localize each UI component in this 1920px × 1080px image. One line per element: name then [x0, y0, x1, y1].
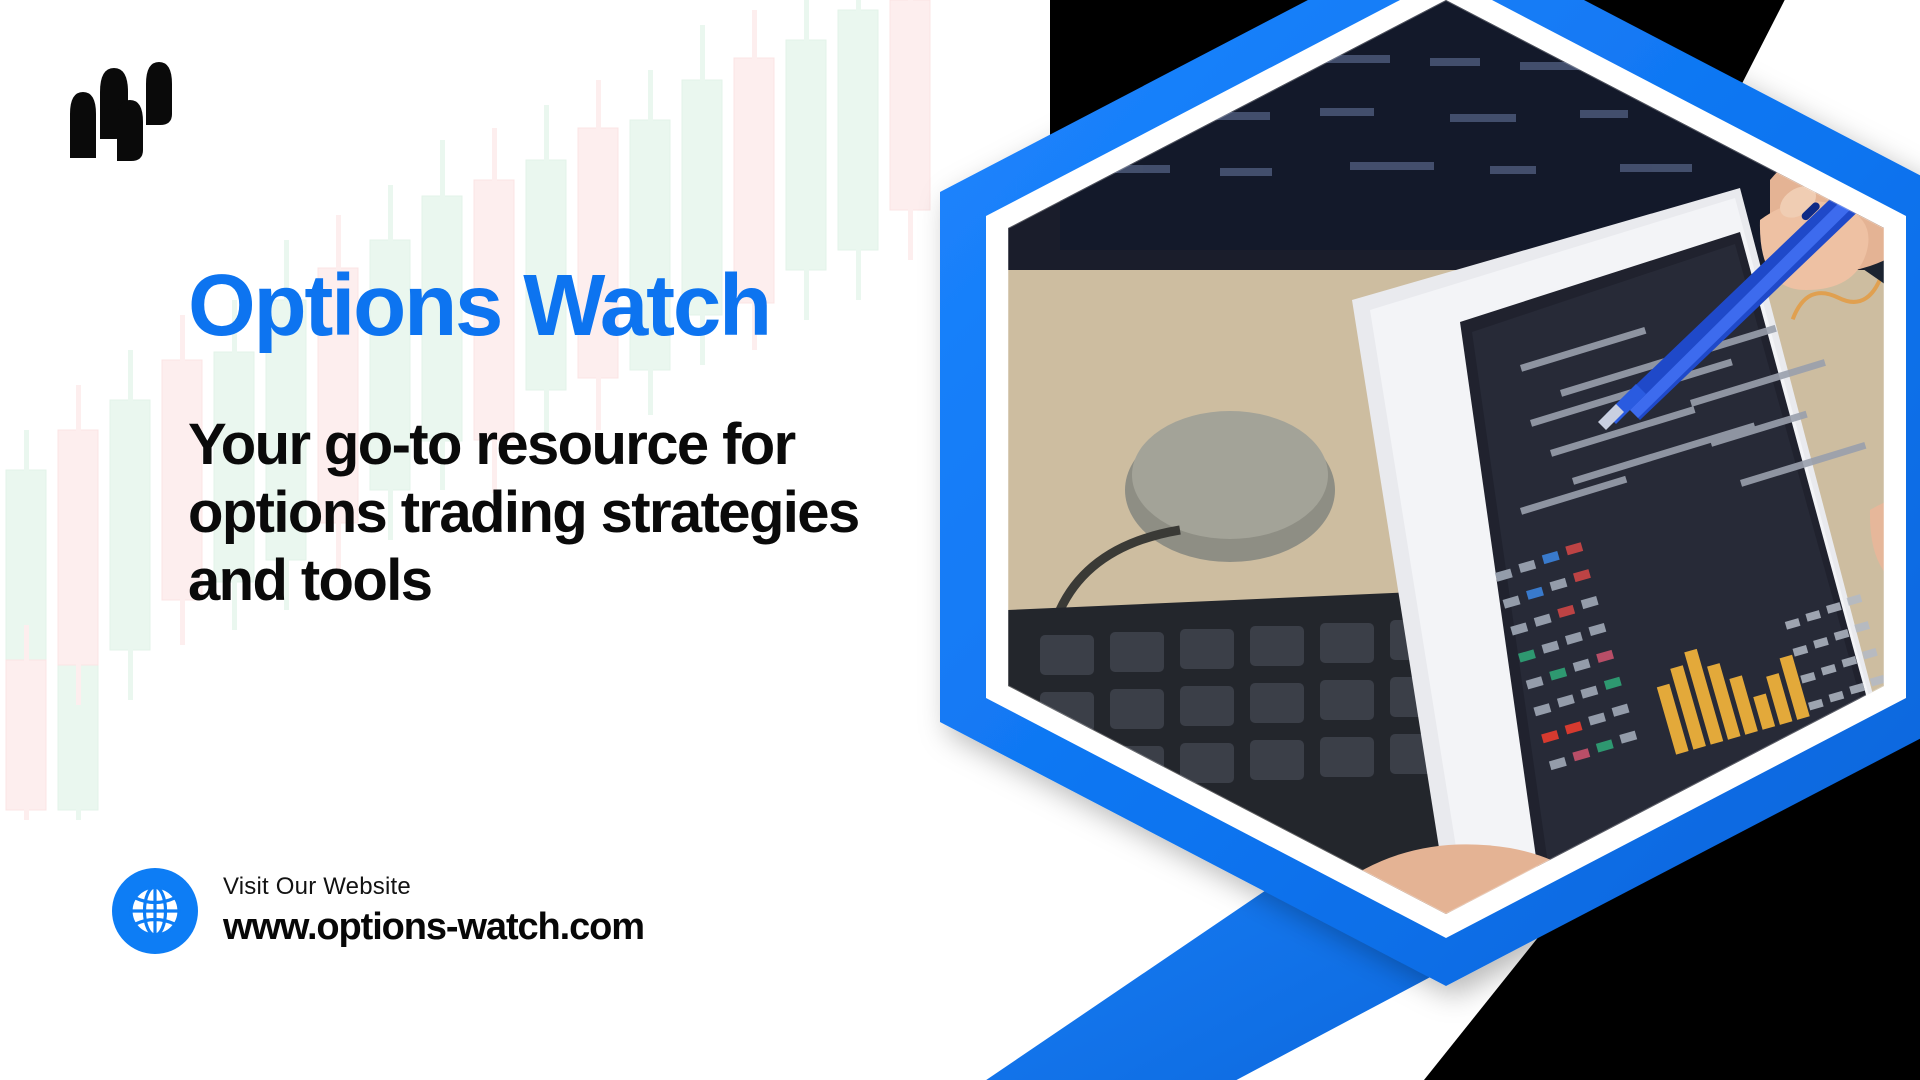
- website-url[interactable]: www.options-watch.com: [223, 905, 644, 951]
- visit-label: Visit Our Website: [223, 872, 644, 902]
- page-title: Options Watch: [188, 262, 948, 349]
- website-text: Visit Our Website www.options-watch.com: [223, 872, 644, 951]
- poster-canvas: Options Watch Your go-to resource for op…: [0, 0, 1920, 1080]
- globe-icon: [112, 868, 198, 954]
- subheadline: Your go-to resource for options trading …: [188, 411, 918, 615]
- bar-chart-logo[interactable]: [62, 62, 172, 162]
- website-cta[interactable]: Visit Our Website www.options-watch.com: [112, 868, 644, 954]
- copy-block: Options Watch Your go-to resource for op…: [188, 262, 948, 615]
